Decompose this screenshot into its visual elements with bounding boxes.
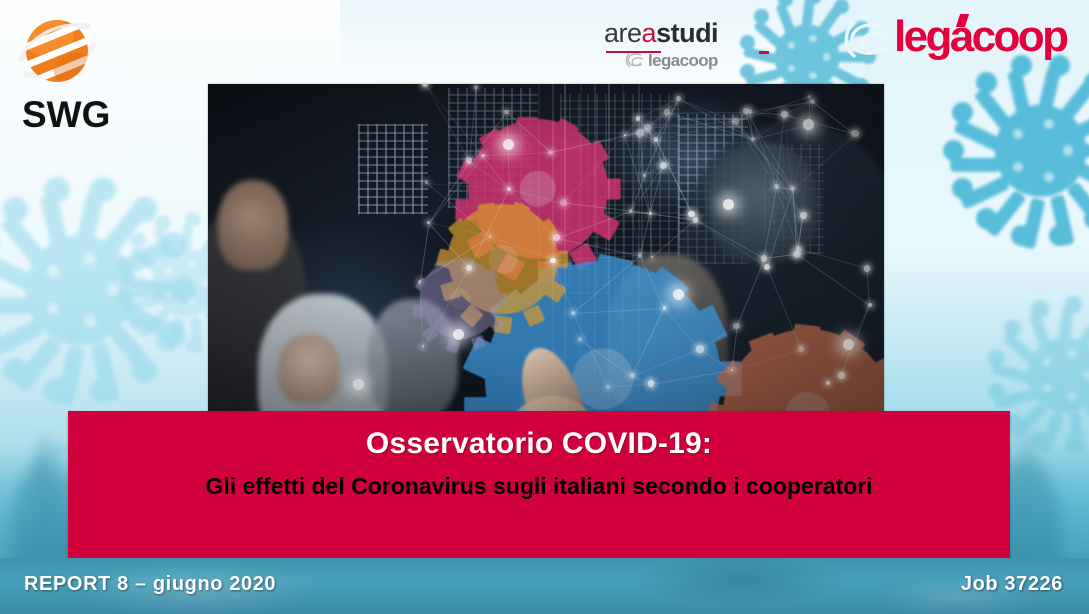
swg-logo: SWG (8, 6, 120, 134)
swg-wordmark: SWG (22, 94, 110, 136)
areastudi-tick (759, 51, 769, 54)
swg-sphere-icon (14, 8, 100, 94)
title-banner: Osservatorio COVID-19: Gli effetti del C… (68, 411, 1010, 558)
footer-job-label: Job 37226 (961, 573, 1063, 596)
legacoop-swirl-icon (842, 20, 892, 62)
legacoop-logo: legacoop (842, 12, 1082, 68)
hero-image (208, 84, 884, 414)
hero-vignette (208, 84, 884, 414)
title-subtitle: Gli effetti del Coronavirus sugli italia… (68, 473, 1010, 500)
coronavirus-particle-icon (948, 58, 1089, 243)
slide-root: SWG areastudi legacoop legacoop (0, 0, 1089, 614)
legacoop-swirl-icon (624, 51, 646, 71)
areastudi-part-are: are (604, 18, 642, 48)
legacoop-wordmark: legacoop (894, 12, 1066, 62)
areastudi-part-a: a (642, 18, 657, 48)
areastudi-sub: legacoop (648, 51, 718, 71)
legacoop-wordmark-text: legacoop (894, 12, 1066, 61)
footer-bar: REPORT 8 – giugno 2020 Job 37226 (0, 558, 1089, 614)
areastudi-part-studi: studi (656, 18, 718, 48)
areastudi-logo: areastudi legacoop (604, 18, 769, 68)
footer-report-label: REPORT 8 – giugno 2020 (24, 573, 276, 596)
areastudi-wordmark: areastudi (604, 18, 769, 48)
title-main: Osservatorio COVID-19: (68, 427, 1010, 461)
